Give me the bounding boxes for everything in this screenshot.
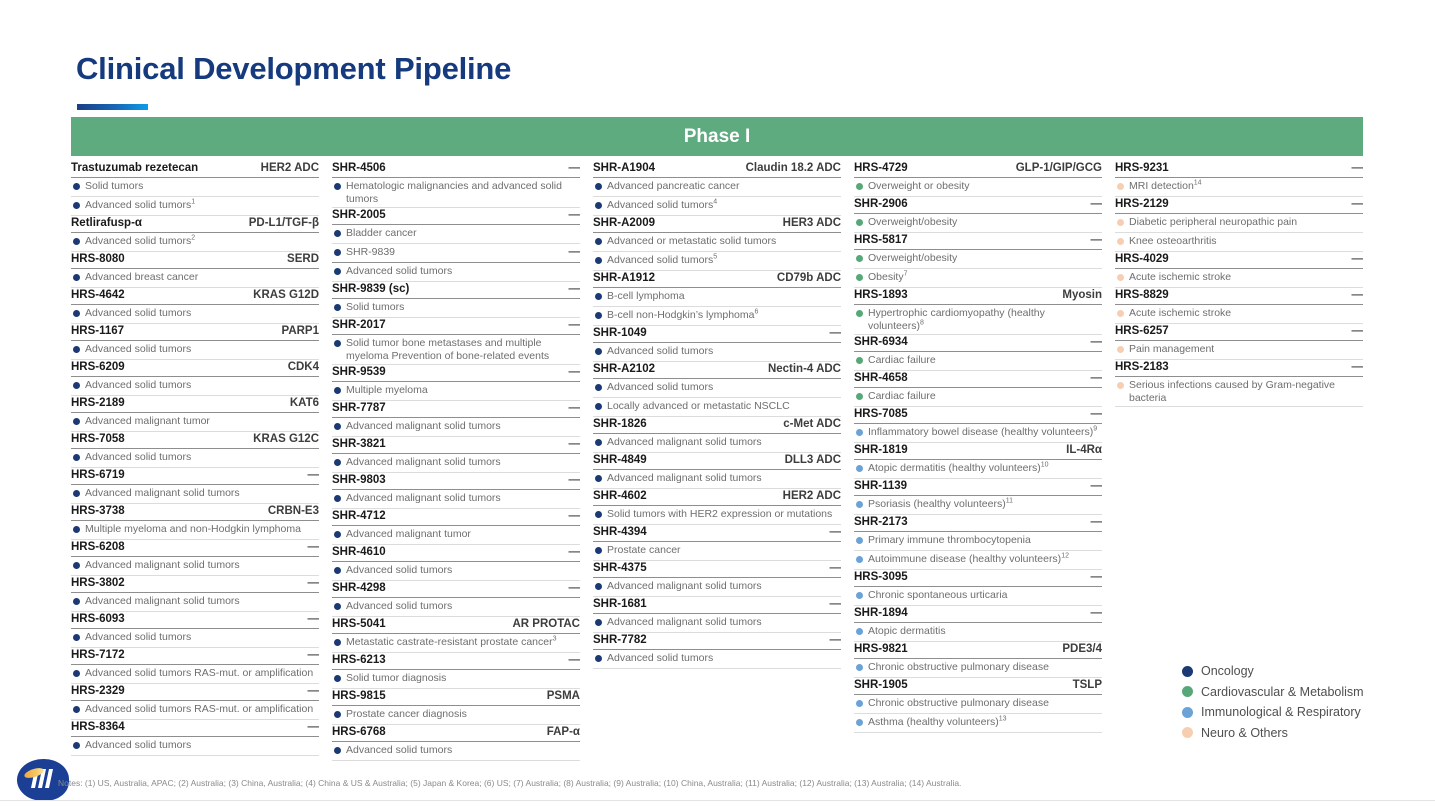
indication-content: SHR-9839 — [332, 246, 565, 259]
indication-text: Obesity7 — [868, 271, 1102, 284]
indication-row: Advanced solid tumors RAS-mut. or amplif… — [71, 701, 319, 720]
drug-target: GLP-1/GIP/GCG — [1016, 161, 1102, 175]
drug-header-row[interactable]: HRS-4029— — [1115, 252, 1363, 269]
indication-content: Advanced malignant solid tumors — [71, 559, 319, 572]
drug-name: HRS-5817 — [854, 233, 908, 247]
therapeutic-area-dot-icon — [334, 603, 341, 610]
drug-target-none: — — [569, 653, 581, 667]
drug-header-row[interactable]: HRS-4642KRAS G12D — [71, 288, 319, 305]
therapeutic-area-dot-icon — [595, 238, 602, 245]
indication-row: Bladder cancer — [332, 225, 580, 244]
drug-block: SHR-9839 (sc)—Solid tumors — [332, 282, 580, 318]
indication-text: Advanced solid tumors — [85, 307, 319, 320]
therapeutic-area-dot-icon — [595, 312, 602, 319]
indication-text: Advanced malignant solid tumors — [607, 580, 841, 593]
therapeutic-area-dot-icon — [334, 423, 341, 430]
indication-text: Hypertrophic cardiomyopathy (healthy vol… — [868, 307, 1102, 332]
drug-target-none: — — [830, 326, 842, 340]
drug-header-row[interactable]: HRS-6257— — [1115, 324, 1363, 341]
indication-row: Solid tumors — [332, 299, 580, 318]
indication-row: Advanced solid tumors — [71, 341, 319, 360]
drug-target: CD79b ADC — [777, 271, 841, 285]
drug-header-row[interactable]: HRS-7058KRAS G12C — [71, 432, 319, 449]
drug-name: SHR-4375 — [593, 561, 647, 575]
drug-header-row[interactable]: SHR-A1904Claudin 18.2 ADC — [593, 161, 841, 178]
drug-name: SHR-A1912 — [593, 271, 655, 285]
indication-content: Advanced malignant solid tumors — [332, 492, 580, 505]
drug-header-row[interactable]: SHR-1819IL-4Rα — [854, 443, 1102, 460]
indication-row: Advanced malignant solid tumors — [593, 470, 841, 489]
indication-row: Solid tumor diagnosis — [332, 670, 580, 689]
drug-header-row[interactable]: SHR-9803— — [332, 473, 580, 490]
drug-header-row[interactable]: SHR-7782— — [593, 633, 841, 650]
therapeutic-area-dot-icon — [595, 619, 602, 626]
legend-item-neuro: Neuro & Others — [1182, 726, 1422, 740]
drug-name: SHR-A1904 — [593, 161, 655, 175]
drug-header-row[interactable]: SHR-2906— — [854, 197, 1102, 214]
drug-block: HRS-8080SERDAdvanced breast cancer — [71, 252, 319, 288]
drug-header-row[interactable]: SHR-3821— — [332, 437, 580, 454]
drug-block: SHR-1681—Advanced malignant solid tumors — [593, 597, 841, 633]
indication-content: Advanced malignant tumor — [71, 415, 319, 428]
drug-target-none: — — [308, 468, 320, 482]
therapeutic-area-dot-icon — [334, 711, 341, 718]
drug-target-none: — — [308, 540, 320, 554]
indication-row: MRI detection14 — [1115, 178, 1363, 197]
drug-name: HRS-1893 — [854, 288, 908, 302]
therapeutic-area-dot-icon — [73, 418, 80, 425]
indication-row: Autoimmune disease (healthy volunteers)1… — [854, 551, 1102, 570]
indication-content: Advanced solid tumors — [332, 600, 580, 613]
drug-block: HRS-8829—Acute ischemic stroke — [1115, 288, 1363, 324]
drug-target-none: — — [1352, 324, 1364, 338]
drug-target-none: — — [1091, 335, 1103, 349]
drug-header-row[interactable]: SHR-9839 (sc)— — [332, 282, 580, 299]
indication-text: Solid tumor bone metastases and multiple… — [346, 337, 580, 362]
drug-header-row[interactable]: HRS-1893Myosin — [854, 288, 1102, 305]
drug-block: SHR-6934—Cardiac failure — [854, 335, 1102, 371]
drug-header-row[interactable]: SHR-1139— — [854, 479, 1102, 496]
page-title: Clinical Development Pipeline — [76, 51, 511, 87]
drug-header-row[interactable]: HRS-3802— — [71, 576, 319, 593]
drug-header-row[interactable]: HRS-2129— — [1115, 197, 1363, 214]
drug-target-none: — — [1091, 479, 1103, 493]
drug-header-row[interactable]: HRS-6719— — [71, 468, 319, 485]
drug-name: HRS-9231 — [1115, 161, 1169, 175]
therapeutic-area-dot-icon — [334, 249, 341, 256]
indication-text: Acute ischemic stroke — [1129, 271, 1363, 284]
drug-header-row[interactable]: SHR-1894— — [854, 606, 1102, 623]
drug-block: HRS-6257—Pain management — [1115, 324, 1363, 360]
indication-content: MRI detection14 — [1115, 180, 1363, 193]
indication-row: Advanced or metastatic solid tumors — [593, 233, 841, 252]
drug-header-row[interactable]: Retlirafusp-αPD-L1/TGF-β — [71, 216, 319, 233]
drug-header-row[interactable]: SHR-4658— — [854, 371, 1102, 388]
indication-row: Advanced solid tumors1 — [71, 197, 319, 216]
drug-block: SHR-A2009HER3 ADCAdvanced or metastatic … — [593, 216, 841, 271]
indication-content: Advanced solid tumors — [71, 631, 319, 644]
therapeutic-area-dot-icon — [73, 382, 80, 389]
therapeutic-area-dot-icon — [73, 670, 80, 677]
pipeline-column: Trastuzumab rezetecanHER2 ADCSolid tumor… — [71, 161, 319, 761]
drug-block: HRS-6208—Advanced malignant solid tumors — [71, 540, 319, 576]
indication-content: Advanced malignant solid tumors — [71, 487, 319, 500]
indication-text: Advanced malignant solid tumors — [346, 420, 580, 433]
drug-header-row[interactable]: SHR-9539— — [332, 365, 580, 382]
indication-row: Advanced solid tumors — [593, 379, 841, 398]
indication-row: Asthma (healthy volunteers)13 — [854, 714, 1102, 733]
drug-target: HER2 ADC — [261, 161, 319, 175]
drug-block: HRS-7058KRAS G12CAdvanced solid tumors — [71, 432, 319, 468]
indication-row: Solid tumor bone metastases and multiple… — [332, 335, 580, 365]
drug-name: SHR-1681 — [593, 597, 647, 611]
drug-block: Trastuzumab rezetecanHER2 ADCSolid tumor… — [71, 161, 319, 216]
drug-header-row[interactable]: HRS-3738CRBN-E3 — [71, 504, 319, 521]
indication-text: Advanced malignant solid tumors — [607, 472, 841, 485]
indication-content: Pain management — [1115, 343, 1363, 356]
indication-text: Advanced solid tumors — [346, 600, 580, 613]
indication-content: Advanced solid tumors — [71, 451, 319, 464]
drug-header-row[interactable]: HRS-9821PDE3/4 — [854, 642, 1102, 659]
drug-name: HRS-8080 — [71, 252, 125, 266]
drug-header-row[interactable]: SHR-1681— — [593, 597, 841, 614]
drug-name: SHR-7782 — [593, 633, 647, 647]
drug-header-row[interactable]: SHR-6934— — [854, 335, 1102, 352]
drug-block: SHR-A1904Claudin 18.2 ADCAdvanced pancre… — [593, 161, 841, 216]
indication-row: Overweight or obesity — [854, 178, 1102, 197]
drug-header-row[interactable]: SHR-1826c-Met ADC — [593, 417, 841, 434]
drug-target-none: — — [569, 318, 581, 332]
drug-header-row[interactable]: SHR-1905TSLP — [854, 678, 1102, 695]
indication-text: Advanced solid tumors — [85, 631, 319, 644]
indication-row: Knee osteoarthritis — [1115, 233, 1363, 252]
indication-content: Autoimmune disease (healthy volunteers)1… — [854, 553, 1102, 566]
indication-row: Acute ischemic stroke — [1115, 269, 1363, 288]
drug-header-row[interactable]: HRS-3095— — [854, 570, 1102, 587]
indication-content: Multiple myeloma — [332, 384, 580, 397]
drug-name: HRS-8364 — [71, 720, 125, 734]
indication-text: Atopic dermatitis — [868, 625, 1102, 638]
drug-header-row[interactable]: HRS-6209CDK4 — [71, 360, 319, 377]
indication-content: Advanced solid tumors1 — [71, 199, 319, 212]
therapeutic-area-dot-icon — [856, 628, 863, 635]
therapeutic-area-dot-icon — [856, 393, 863, 400]
indication-row: SHR-9839— — [332, 244, 580, 263]
indication-row: Solid tumors with HER2 expression or mut… — [593, 506, 841, 525]
drug-target-none: — — [569, 365, 581, 379]
drug-target-none: — — [569, 282, 581, 296]
drug-header-row[interactable]: SHR-2017— — [332, 318, 580, 335]
indication-text: Advanced or metastatic solid tumors — [607, 235, 841, 248]
legend-dot-icon — [1182, 666, 1193, 677]
drug-header-row[interactable]: SHR-7787— — [332, 401, 580, 418]
indication-text: Advanced malignant tumor — [346, 528, 580, 541]
drug-header-row[interactable]: SHR-1049— — [593, 326, 841, 343]
therapeutic-area-dot-icon — [334, 230, 341, 237]
drug-block: SHR-4610—Advanced solid tumors — [332, 545, 580, 581]
footnote-ref: 3 — [553, 636, 557, 643]
indication-content: Advanced solid tumors — [71, 307, 319, 320]
therapeutic-area-dot-icon — [856, 357, 863, 364]
drug-target-none: — — [830, 597, 842, 611]
drug-name: HRS-3095 — [854, 570, 908, 584]
indication-content: Advanced malignant solid tumors — [593, 436, 841, 449]
drug-target-none: — — [569, 473, 581, 487]
drug-block: HRS-1893MyosinHypertrophic cardiomyopath… — [854, 288, 1102, 335]
drug-header-row[interactable]: HRS-2189KAT6 — [71, 396, 319, 413]
drug-block: SHR-1139—Psoriasis (healthy volunteers)1… — [854, 479, 1102, 515]
drug-header-row[interactable]: SHR-A2102Nectin-4 ADC — [593, 362, 841, 379]
indication-row: Advanced malignant solid tumors — [332, 454, 580, 473]
drug-target: PDE3/4 — [1062, 642, 1102, 656]
indication-text: Advanced malignant solid tumors — [607, 616, 841, 629]
indication-row: Advanced solid tumors — [71, 377, 319, 396]
therapeutic-area-dot-icon — [334, 639, 341, 646]
drug-name: SHR-4712 — [332, 509, 386, 523]
drug-name: SHR-2017 — [332, 318, 386, 332]
drug-header-row[interactable]: SHR-A2009HER3 ADC — [593, 216, 841, 233]
indication-row: Hematologic malignancies and advanced so… — [332, 178, 580, 208]
drug-block: SHR-7787—Advanced malignant solid tumors — [332, 401, 580, 437]
drug-name: HRS-5041 — [332, 617, 386, 631]
drug-header-row[interactable]: HRS-5041AR PROTAC — [332, 617, 580, 634]
drug-target-none: — — [1352, 161, 1364, 175]
drug-name: HRS-3802 — [71, 576, 125, 590]
drug-header-row[interactable]: SHR-4298— — [332, 581, 580, 598]
indication-text: Pain management — [1129, 343, 1363, 356]
therapeutic-area-dot-icon — [856, 592, 863, 599]
drug-header-row[interactable]: HRS-5817— — [854, 233, 1102, 250]
drug-name: SHR-2906 — [854, 197, 908, 211]
drug-name: HRS-2189 — [71, 396, 125, 410]
indication-text: Overweight/obesity — [868, 252, 1102, 265]
therapeutic-area-dot-icon — [595, 439, 602, 446]
indication-content: Atopic dermatitis — [854, 625, 1102, 638]
drug-header-row[interactable]: HRS-7085— — [854, 407, 1102, 424]
drug-header-row[interactable]: HRS-4729GLP-1/GIP/GCG — [854, 161, 1102, 178]
legend-item-immuno: Immunological & Respiratory — [1182, 705, 1422, 719]
therapeutic-area-dot-icon — [595, 547, 602, 554]
drug-block: SHR-4849DLL3 ADCAdvanced malignant solid… — [593, 453, 841, 489]
drug-target: FAP-α — [547, 725, 580, 739]
indication-text: Advanced solid tumors RAS-mut. or amplif… — [85, 667, 319, 680]
indication-row: Chronic obstructive pulmonary disease — [854, 695, 1102, 714]
drug-block: HRS-8364—Advanced solid tumors — [71, 720, 319, 756]
drug-target: Myosin — [1062, 288, 1102, 302]
drug-target: KRAS G12D — [253, 288, 319, 302]
drug-name: HRS-9821 — [854, 642, 908, 656]
drug-block: SHR-1905TSLPChronic obstructive pulmonar… — [854, 678, 1102, 733]
therapeutic-area-dot-icon — [1117, 346, 1124, 353]
drug-header-row[interactable]: HRS-6093— — [71, 612, 319, 629]
indication-text: Primary immune thrombocytopenia — [868, 534, 1102, 547]
indication-content: Obesity7 — [854, 271, 1102, 284]
drug-block: HRS-3095—Chronic spontaneous urticaria — [854, 570, 1102, 606]
drug-target: HER3 ADC — [783, 216, 841, 230]
drug-block: SHR-1049—Advanced solid tumors — [593, 326, 841, 362]
drug-header-row[interactable]: HRS-8829— — [1115, 288, 1363, 305]
drug-name: HRS-2129 — [1115, 197, 1169, 211]
indication-text: Advanced solid tumors — [85, 343, 319, 356]
drug-header-row[interactable]: HRS-9231— — [1115, 161, 1363, 178]
indication-content: Prostate cancer — [593, 544, 841, 557]
indication-row: B-cell non-Hodgkin’s lymphoma6 — [593, 307, 841, 326]
drug-header-row[interactable]: HRS-6208— — [71, 540, 319, 557]
therapeutic-area-dot-icon — [595, 257, 602, 264]
therapeutic-area-dot-icon — [334, 304, 341, 311]
therapeutic-area-dot-icon — [856, 255, 863, 262]
drug-block: SHR-4394—Prostate cancer — [593, 525, 841, 561]
drug-block: SHR-2173—Primary immune thrombocytopenia… — [854, 515, 1102, 570]
drug-block: SHR-4602HER2 ADCSolid tumors with HER2 e… — [593, 489, 841, 525]
drug-header-row[interactable]: Trastuzumab rezetecanHER2 ADC — [71, 161, 319, 178]
drug-header-row[interactable]: HRS-6768FAP-α — [332, 725, 580, 742]
drug-target-none: — — [1352, 360, 1364, 374]
drug-header-row[interactable]: SHR-4394— — [593, 525, 841, 542]
drug-name: SHR-A2102 — [593, 362, 655, 376]
indication-text: Advanced solid tumors — [85, 379, 319, 392]
indication-text: Autoimmune disease (healthy volunteers)1… — [868, 553, 1102, 566]
indication-content: Solid tumor bone metastases and multiple… — [332, 337, 580, 362]
drug-target: HER2 ADC — [783, 489, 841, 503]
indication-text: Advanced solid tumors — [346, 744, 580, 757]
therapeutic-area-dot-icon — [856, 700, 863, 707]
therapeutic-area-dot-icon — [73, 454, 80, 461]
indication-text: Advanced solid tumors4 — [607, 199, 841, 212]
drug-block: SHR-3821—Advanced malignant solid tumors — [332, 437, 580, 473]
drug-header-row[interactable]: SHR-4506— — [332, 161, 580, 178]
indication-content: Advanced breast cancer — [71, 271, 319, 284]
therapeutic-area-dot-icon — [73, 310, 80, 317]
drug-name: SHR-6934 — [854, 335, 908, 349]
title-accent-bar — [77, 104, 148, 110]
indication-text: Acute ischemic stroke — [1129, 307, 1363, 320]
indication-row: Hypertrophic cardiomyopathy (healthy vol… — [854, 305, 1102, 335]
drug-block: HRS-3802—Advanced malignant solid tumors — [71, 576, 319, 612]
drug-target-none: — — [569, 545, 581, 559]
indication-text: Solid tumors with HER2 expression or mut… — [607, 508, 841, 521]
footnote-ref: 14 — [1194, 180, 1202, 187]
indication-content: Advanced solid tumors5 — [593, 254, 841, 267]
indication-content: Advanced pancreatic cancer — [593, 180, 841, 193]
indication-text: Chronic obstructive pulmonary disease — [868, 661, 1102, 674]
drug-block: SHR-4712—Advanced malignant tumor — [332, 509, 580, 545]
drug-name: HRS-3738 — [71, 504, 125, 518]
drug-name: HRS-9815 — [332, 689, 386, 703]
pipeline-column: SHR-4506—Hematologic malignancies and ad… — [332, 161, 580, 761]
indication-content: Overweight/obesity — [854, 216, 1102, 229]
indication-content: Acute ischemic stroke — [1115, 271, 1363, 284]
therapeutic-area-dot-icon — [1117, 310, 1124, 317]
therapeutic-area-dot-icon — [1117, 219, 1124, 226]
drug-header-row[interactable]: SHR-2005— — [332, 208, 580, 225]
drug-block: SHR-4506—Hematologic malignancies and ad… — [332, 161, 580, 208]
drug-block: HRS-9815PSMAProstate cancer diagnosis — [332, 689, 580, 725]
drug-header-row[interactable]: HRS-9815PSMA — [332, 689, 580, 706]
phase-label: Phase I — [684, 126, 751, 148]
footnote-ref: 5 — [713, 254, 717, 261]
indication-row: Advanced malignant solid tumors — [332, 418, 580, 437]
therapeutic-area-dot-icon — [1117, 274, 1124, 281]
indication-text: Multiple myeloma and non-Hodgkin lymphom… — [85, 523, 319, 536]
footnote-ref: 12 — [1061, 553, 1069, 560]
indication-row: Advanced solid tumors — [71, 305, 319, 324]
drug-block: HRS-9821PDE3/4Chronic obstructive pulmon… — [854, 642, 1102, 678]
drug-target: PARP1 — [282, 324, 320, 338]
indication-text: Advanced pancreatic cancer — [607, 180, 841, 193]
indication-text: Solid tumor diagnosis — [346, 672, 580, 685]
indication-content: Advanced solid tumors — [593, 381, 841, 394]
therapeutic-area-dot-icon — [73, 598, 80, 605]
drug-target-none: — — [569, 208, 581, 222]
drug-header-row[interactable]: SHR-4375— — [593, 561, 841, 578]
indication-row: Atopic dermatitis (healthy volunteers)10 — [854, 460, 1102, 479]
therapeutic-area-dot-icon — [73, 742, 80, 749]
indication-content: Knee osteoarthritis — [1115, 235, 1363, 248]
drug-block: SHR-1826c-Met ADCAdvanced malignant soli… — [593, 417, 841, 453]
drug-header-row[interactable]: HRS-6213— — [332, 653, 580, 670]
drug-target: Nectin-4 ADC — [768, 362, 841, 376]
drug-header-row[interactable]: SHR-A1912CD79b ADC — [593, 271, 841, 288]
drug-name: HRS-4029 — [1115, 252, 1169, 266]
drug-header-row[interactable]: SHR-2173— — [854, 515, 1102, 532]
drug-target: SERD — [287, 252, 319, 266]
therapeutic-area-dot-icon — [856, 274, 863, 281]
therapeutic-area-dot-icon — [334, 567, 341, 574]
drug-header-row[interactable]: SHR-4602HER2 ADC — [593, 489, 841, 506]
drug-header-row[interactable]: HRS-2329— — [71, 684, 319, 701]
indication-text: Atopic dermatitis (healthy volunteers)10 — [868, 462, 1102, 475]
drug-block: HRS-6093—Advanced solid tumors — [71, 612, 319, 648]
legend: OncologyCardiovascular & MetabolismImmun… — [1182, 664, 1422, 746]
footnote-ref: 10 — [1041, 462, 1049, 469]
indication-text: Advanced solid tumors — [85, 451, 319, 464]
drug-block: SHR-A1912CD79b ADCB-cell lymphomaB-cell … — [593, 271, 841, 326]
indication-row: Locally advanced or metastatic NSCLC — [593, 398, 841, 417]
drug-target-none: — — [1352, 288, 1364, 302]
drug-target: DLL3 ADC — [785, 453, 841, 467]
therapeutic-area-dot-icon — [73, 238, 80, 245]
indication-text: Bladder cancer — [346, 227, 580, 240]
drug-name: HRS-6213 — [332, 653, 386, 667]
drug-header-row[interactable]: SHR-4610— — [332, 545, 580, 562]
drug-header-row[interactable]: HRS-7172— — [71, 648, 319, 665]
indication-row: Primary immune thrombocytopenia — [854, 532, 1102, 551]
drug-header-row[interactable]: SHR-4849DLL3 ADC — [593, 453, 841, 470]
indication-content: Chronic obstructive pulmonary disease — [854, 661, 1102, 674]
drug-header-row[interactable]: HRS-8364— — [71, 720, 319, 737]
indication-text: Asthma (healthy volunteers)13 — [868, 716, 1102, 729]
drug-header-row[interactable]: HRS-2183— — [1115, 360, 1363, 377]
indication-text: Solid tumors — [346, 301, 580, 314]
drug-name: SHR-1826 — [593, 417, 647, 431]
drug-header-row[interactable]: HRS-1167PARP1 — [71, 324, 319, 341]
drug-block: SHR-4375—Advanced malignant solid tumors — [593, 561, 841, 597]
drug-target-none: — — [308, 720, 320, 734]
indication-row: Metastatic castrate-resistant prostate c… — [332, 634, 580, 653]
therapeutic-area-dot-icon — [856, 537, 863, 544]
drug-target-none: — — [308, 684, 320, 698]
indication-text: Psoriasis (healthy volunteers)11 — [868, 498, 1102, 511]
drug-name: HRS-4642 — [71, 288, 125, 302]
drug-header-row[interactable]: HRS-8080SERD — [71, 252, 319, 269]
drug-header-row[interactable]: SHR-4712— — [332, 509, 580, 526]
drug-block: HRS-7085—Inflammatory bowel disease (hea… — [854, 407, 1102, 443]
drug-name: HRS-4729 — [854, 161, 908, 175]
indication-content: Asthma (healthy volunteers)13 — [854, 716, 1102, 729]
drug-name: SHR-4298 — [332, 581, 386, 595]
indication-text: Multiple myeloma — [346, 384, 580, 397]
